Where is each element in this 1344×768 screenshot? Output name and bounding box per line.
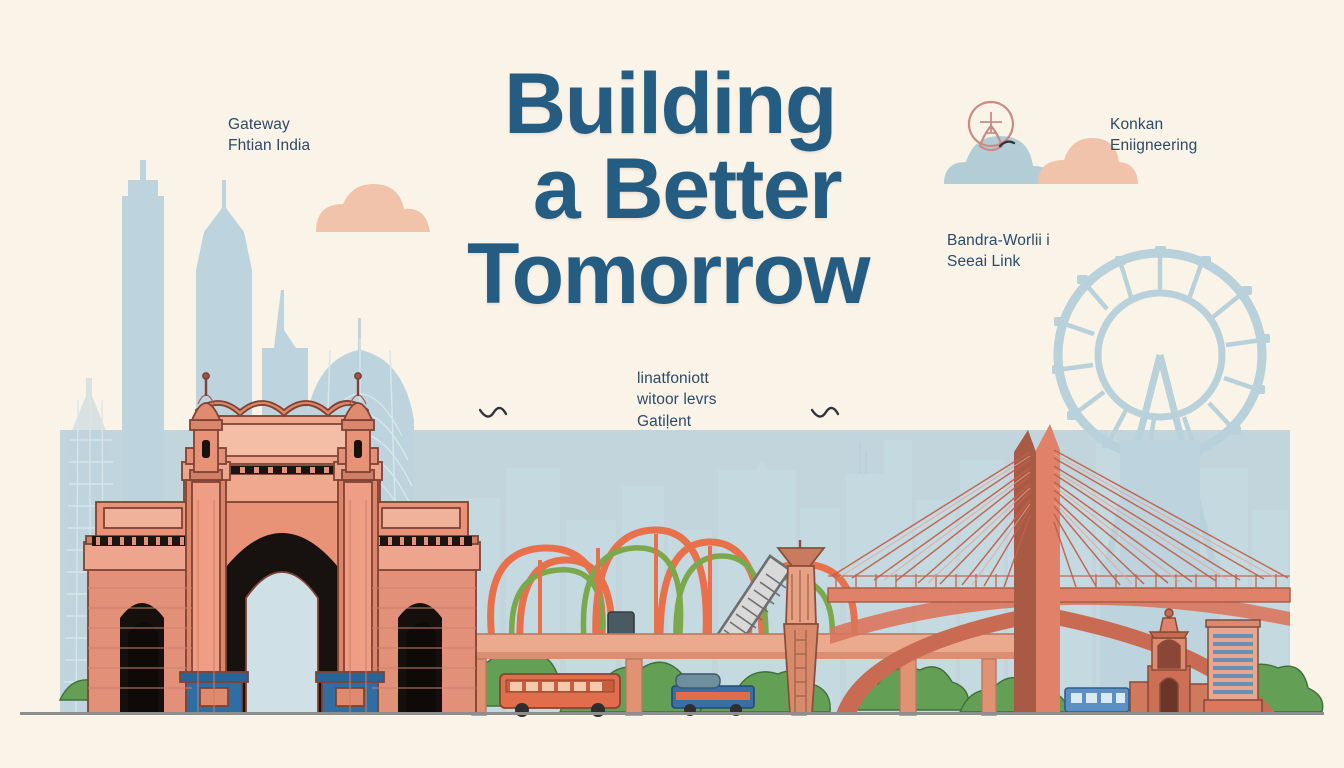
label-bandra-worli-sea-link: Bandra-Worlii i Seeai Link	[947, 230, 1050, 273]
label-gateway-of-india: Gateway Fhtian India	[228, 114, 310, 157]
label-konkan-engineering: Konkan Eniigneering	[1110, 114, 1197, 157]
label-center-annotation: linatfoniott witoor levrs Gatiḷent	[637, 368, 717, 432]
poster-canvas: Building a Better Tomorrow Gateway Fhtia…	[0, 0, 1344, 768]
